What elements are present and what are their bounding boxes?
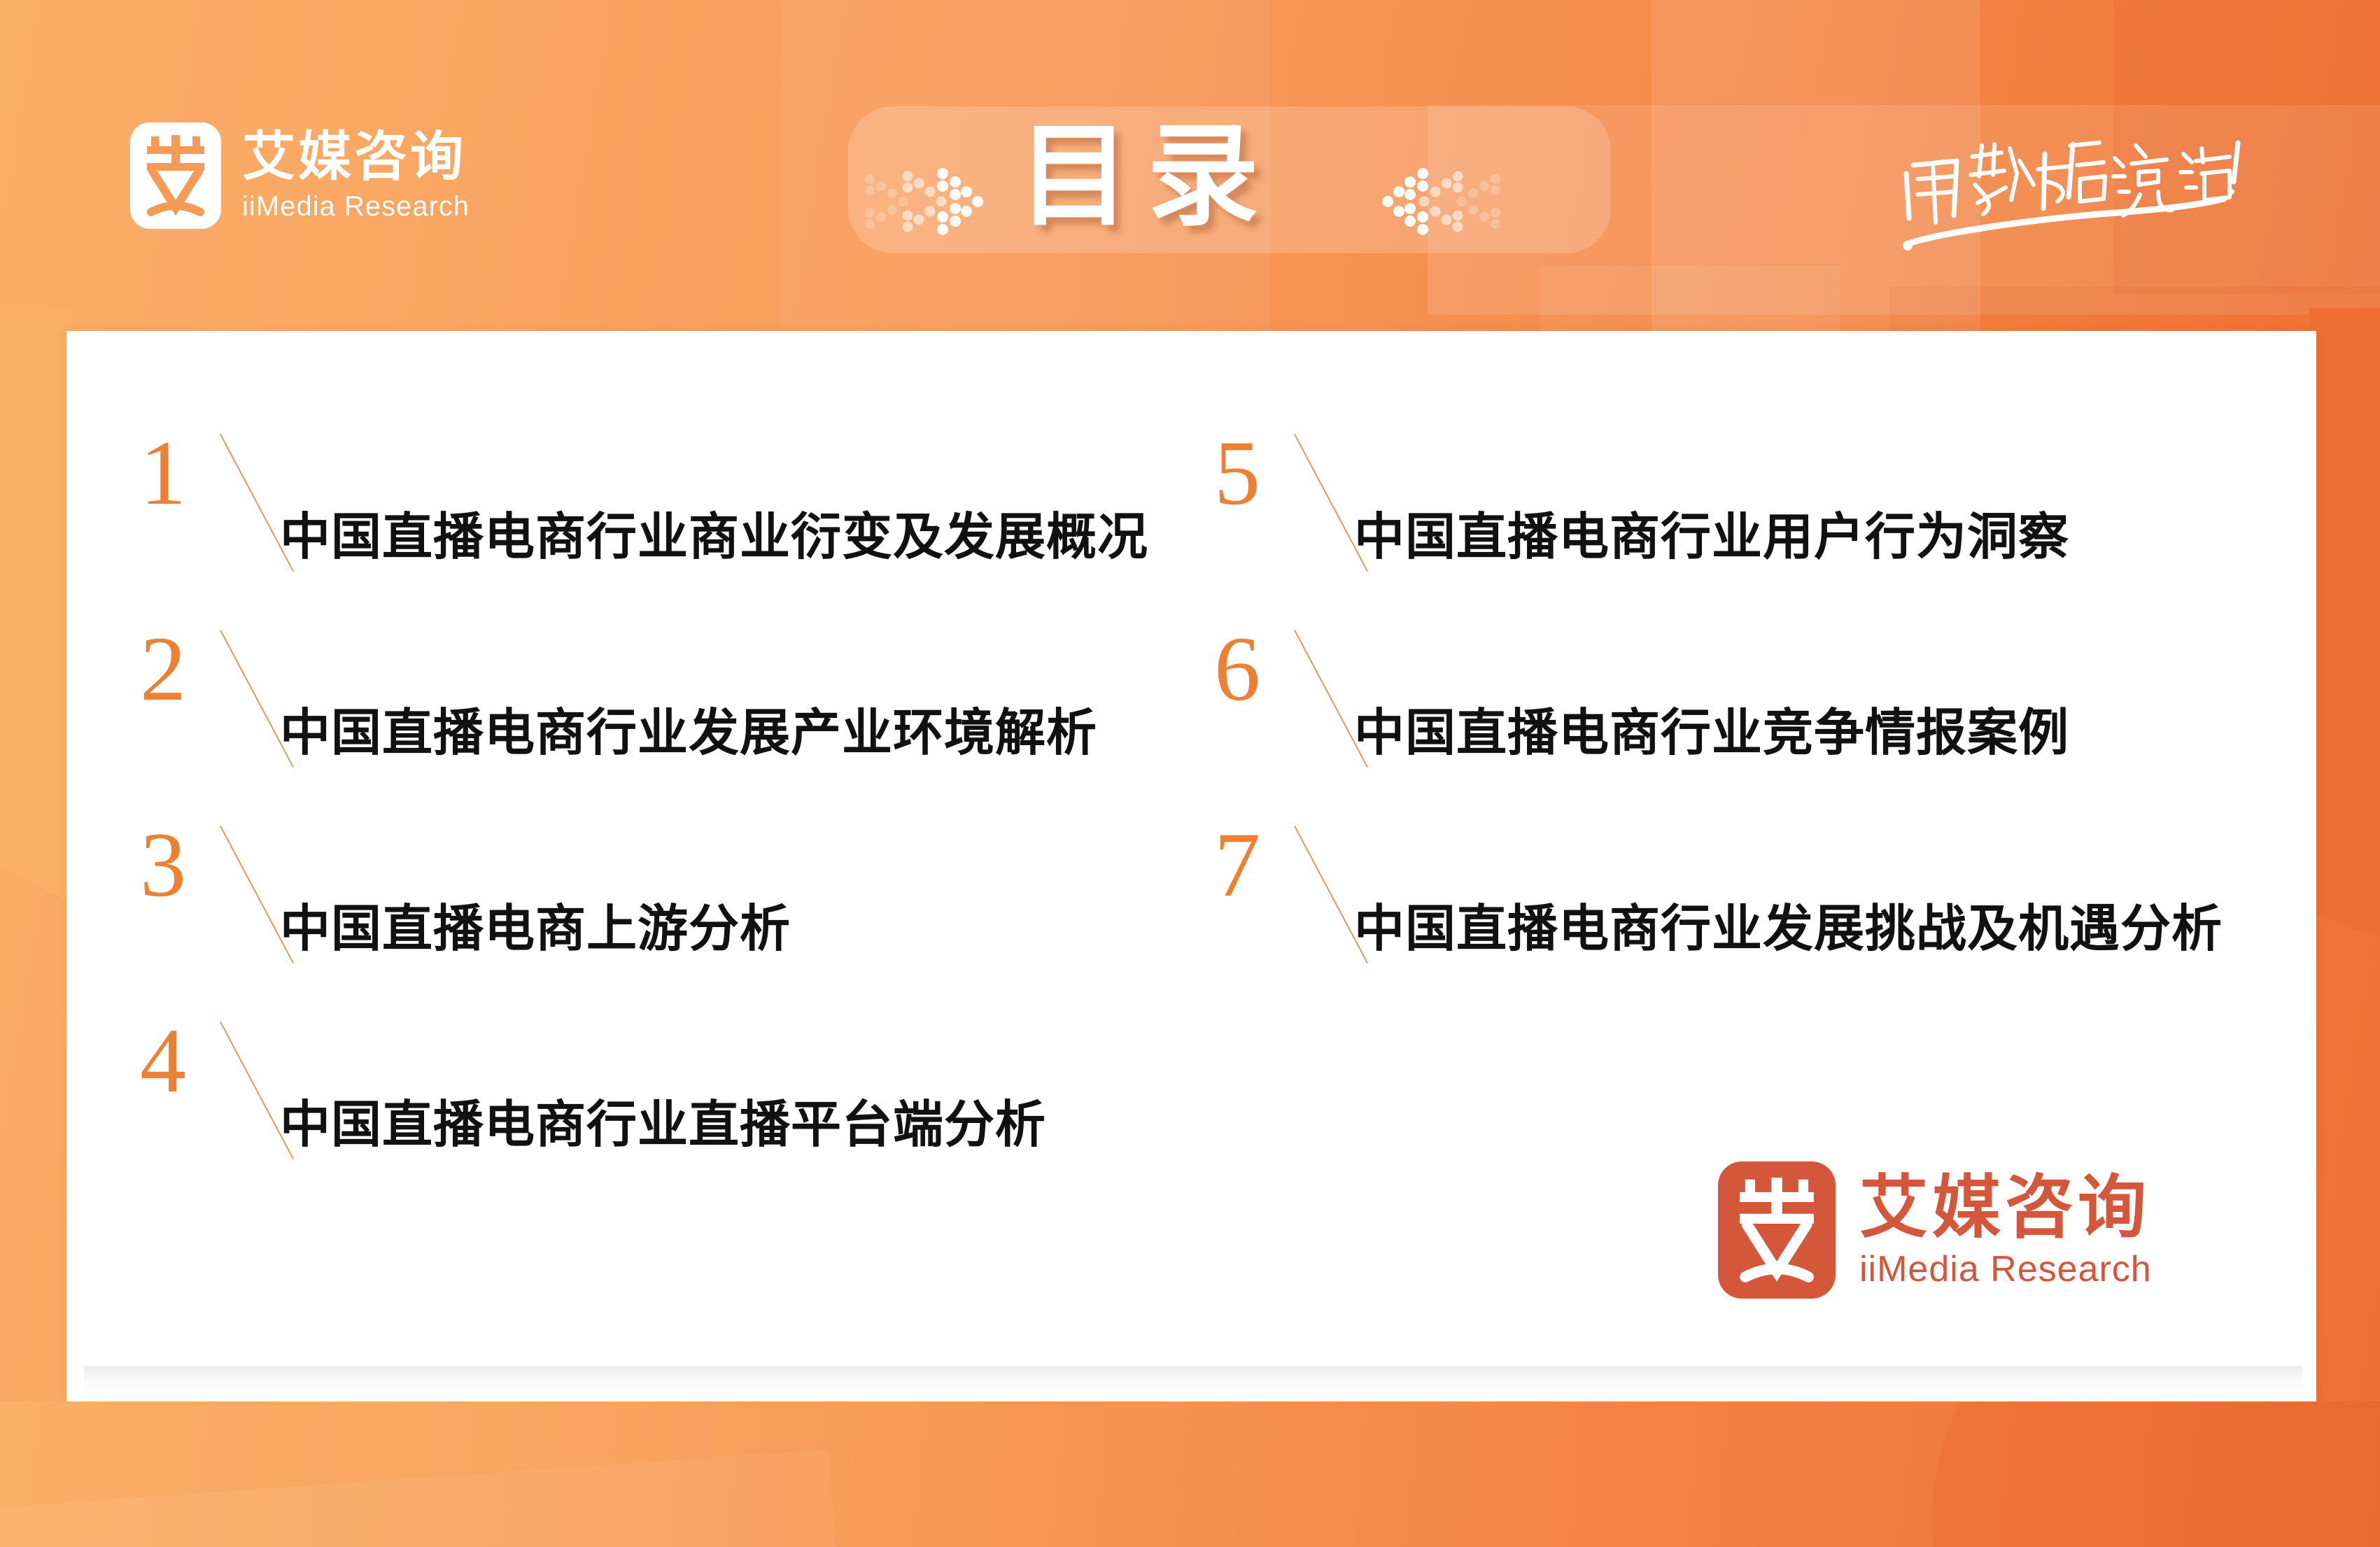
toc-item-label: 中国直播电商上游分析 [280,899,791,959]
toc-slash-divider [217,429,308,583]
toc-item-label: 中国直播电商行业直播平台端分析 [280,1095,1046,1155]
brand-wordmark: 艾媒咨询 iiMedia Research [1859,1173,2152,1287]
brand-name-cn: 艾媒咨询 [242,131,470,184]
toc-item-label: 中国直播电商行业商业衍变及发展概况 [280,507,1148,567]
toc-slash-divider [217,1017,308,1171]
brand-logo-top: 艾媒咨询 iiMedia Research [130,122,470,229]
toc-item-4[interactable]: 4 中国直播电商行业直播平台端分析 [140,1017,1046,1185]
toc-item-number: 3 [140,821,217,908]
chevron-left-dots-icon [1368,146,1501,261]
toc-item-3[interactable]: 3 中国直播电商上游分析 [140,821,791,989]
toc-item-2[interactable]: 2 中国直播电商行业发展产业环境解析 [140,625,1097,793]
brand-name-cn: 艾媒咨询 [1859,1173,2152,1241]
slogan-handwriting [1889,133,2253,259]
toc-slash-divider [1291,821,1382,975]
footer-orange-band [0,1401,2380,1547]
toc-slash-divider [217,625,308,779]
toc-item-label: 中国直播电商行业竞争情报案例 [1354,703,2069,763]
toc-slash-divider [217,821,308,975]
brand-wordmark: 艾媒咨询 iiMedia Research [242,131,470,220]
toc-column-left: 1 中国直播电商行业商业衍变及发展概况 2 中国直播电商行业发展产业环境解析 3… [140,331,1232,1401]
toc-item-number: 6 [1214,625,1291,712]
toc-item-1[interactable]: 1 中国直播电商行业商业衍变及发展概况 [140,429,1148,597]
right-orange-tab [2309,308,2380,938]
brand-logo-bottom: 艾媒咨询 iiMedia Research [1718,1161,2152,1299]
toc-slash-divider [1291,429,1382,583]
toc-item-number: 2 [140,625,217,712]
slide-root: 艾媒咨询 iiMedia Research [0,0,2380,1547]
toc-item-number: 4 [140,1017,217,1104]
iimedia-logo-icon [130,122,221,229]
iimedia-logo-icon [1718,1161,1836,1299]
toc-item-label: 中国直播电商行业发展产业环境解析 [280,703,1097,763]
toc-item-5[interactable]: 5 中国直播电商行业用户行为洞察 [1214,429,2069,597]
toc-item-label: 中国直播电商行业用户行为洞察 [1354,507,2069,567]
brand-name-en: iiMedia Research [242,192,470,220]
brand-name-en: iiMedia Research [1859,1251,2152,1287]
toc-item-6[interactable]: 6 中国直播电商行业竞争情报案例 [1214,625,2069,793]
toc-item-number: 1 [140,429,217,516]
page-title: 目录 [1018,111,1276,243]
toc-item-7[interactable]: 7 中国直播电商行业发展挑战及机遇分析 [1214,821,2223,989]
left-orange-tab [0,308,70,903]
toc-item-label: 中国直播电商行业发展挑战及机遇分析 [1354,899,2223,959]
toc-slash-divider [1291,625,1382,779]
toc-item-number: 5 [1214,429,1291,516]
toc-item-number: 7 [1214,821,1291,908]
chevron-right-dots-icon [864,146,997,261]
